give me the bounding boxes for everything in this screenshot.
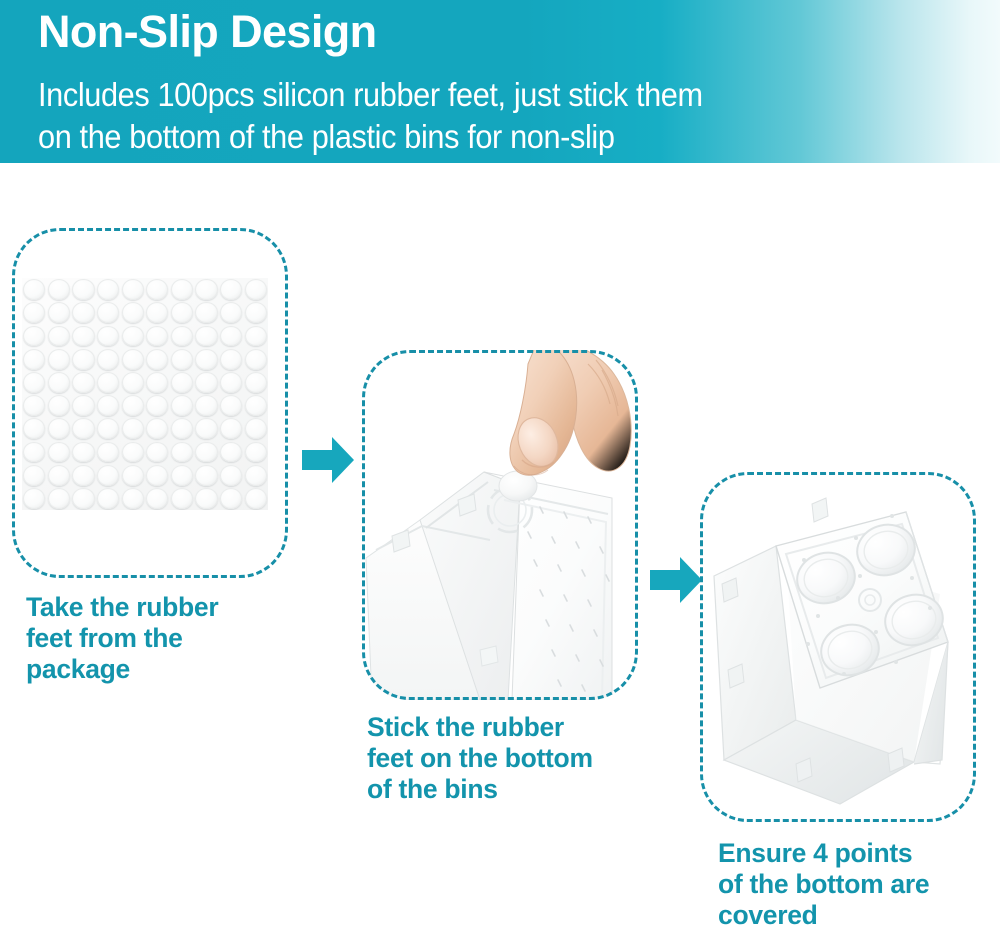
step-2-caption-line-1: Stick the rubber (367, 712, 677, 743)
rubber-foot (23, 442, 45, 463)
rubber-foot (48, 465, 70, 486)
rubber-foot (146, 418, 168, 439)
rubber-foot (195, 488, 217, 509)
rubber-foot (72, 465, 94, 486)
rubber-foot (245, 395, 267, 416)
rubber-foot (23, 372, 45, 393)
rubber-foot (97, 372, 119, 393)
rubber-foot (72, 279, 94, 300)
rubber-foot (146, 442, 168, 463)
rubber-foot (72, 395, 94, 416)
rubber-foot (195, 395, 217, 416)
rubber-foot (122, 349, 144, 370)
rubber-foot (146, 349, 168, 370)
rubber-feet-grid (22, 278, 268, 510)
rubber-foot (146, 372, 168, 393)
rubber-foot (72, 418, 94, 439)
rubber-foot (97, 349, 119, 370)
header-subtitle: Includes 100pcs silicon rubber feet, jus… (38, 74, 875, 158)
step-1-caption: Take the rubber feet from the package (26, 592, 326, 685)
rubber-foot (146, 465, 168, 486)
header-subtitle-line-1: Includes 100pcs silicon rubber feet, jus… (38, 74, 875, 116)
rubber-foot (220, 488, 242, 509)
rubber-foot (195, 442, 217, 463)
step-3-caption-line-1: Ensure 4 points (718, 838, 1000, 869)
step-3-panel (700, 472, 976, 822)
rubber-foot (48, 302, 70, 323)
rubber-foot (48, 279, 70, 300)
rubber-foot (23, 349, 45, 370)
rubber-foot (48, 326, 70, 347)
rubber-foot (195, 418, 217, 439)
rubber-foot (146, 279, 168, 300)
rubber-foot (146, 326, 168, 347)
rubber-foot (171, 326, 193, 347)
rubber-foot (122, 372, 144, 393)
rubber-foot (48, 349, 70, 370)
rubber-foot (245, 349, 267, 370)
rubber-foot (48, 418, 70, 439)
rubber-foot (171, 302, 193, 323)
rubber-foot (122, 465, 144, 486)
rubber-foot (195, 302, 217, 323)
step-1-caption-line-2: feet from the (26, 623, 326, 654)
rubber-foot (97, 326, 119, 347)
rubber-foot (220, 326, 242, 347)
rubber-foot (23, 465, 45, 486)
rubber-foot (97, 488, 119, 509)
step-3-caption: Ensure 4 points of the bottom are covere… (718, 838, 1000, 931)
rubber-foot (97, 465, 119, 486)
step-2-caption-line-2: feet on the bottom (367, 743, 677, 774)
rubber-foot (171, 395, 193, 416)
rubber-foot (220, 395, 242, 416)
rubber-foot (23, 279, 45, 300)
rubber-foot (146, 302, 168, 323)
rubber-foot (220, 302, 242, 323)
page-title: Non-Slip Design (38, 8, 377, 57)
rubber-foot (171, 488, 193, 509)
rubber-foot (245, 302, 267, 323)
rubber-foot (245, 418, 267, 439)
rubber-foot (195, 372, 217, 393)
rubber-foot (220, 372, 242, 393)
rubber-foot (245, 465, 267, 486)
step-2-caption-line-3: of the bins (367, 774, 677, 805)
rubber-foot (171, 442, 193, 463)
rubber-foot (122, 279, 144, 300)
step-1-caption-line-3: package (26, 654, 326, 685)
rubber-foot (23, 302, 45, 323)
rubber-foot (97, 442, 119, 463)
rubber-feet-sheet-image (22, 278, 268, 510)
rubber-foot (97, 302, 119, 323)
rubber-foot (122, 326, 144, 347)
arrow-step-1-to-2-icon (300, 432, 356, 488)
rubber-foot (122, 395, 144, 416)
rubber-foot (220, 442, 242, 463)
arrow-step-2-to-3-icon (648, 552, 704, 608)
step-2-caption: Stick the rubber feet on the bottom of t… (367, 712, 677, 805)
rubber-foot (122, 302, 144, 323)
step-2-panel (362, 350, 638, 700)
rubber-foot (48, 395, 70, 416)
rubber-foot (97, 418, 119, 439)
rubber-foot (48, 488, 70, 509)
step-3-caption-line-2: of the bottom are (718, 869, 1000, 900)
rubber-foot (122, 442, 144, 463)
rubber-foot (171, 372, 193, 393)
rubber-foot (72, 326, 94, 347)
header-banner: Non-Slip Design Includes 100pcs silicon … (0, 0, 1000, 163)
rubber-foot (245, 442, 267, 463)
rubber-foot (171, 349, 193, 370)
rubber-foot (195, 349, 217, 370)
rubber-foot (195, 465, 217, 486)
step-1-caption-line-1: Take the rubber (26, 592, 326, 623)
rubber-foot (72, 349, 94, 370)
rubber-foot (245, 372, 267, 393)
rubber-foot (245, 326, 267, 347)
rubber-foot (171, 465, 193, 486)
rubber-foot (122, 418, 144, 439)
rubber-foot (171, 418, 193, 439)
header-subtitle-line-2: on the bottom of the plastic bins for no… (38, 116, 875, 158)
rubber-foot (171, 279, 193, 300)
rubber-foot (23, 488, 45, 509)
rubber-foot (23, 395, 45, 416)
rubber-foot (195, 279, 217, 300)
rubber-foot (245, 488, 267, 509)
rubber-foot (220, 465, 242, 486)
rubber-foot (146, 395, 168, 416)
rubber-foot (245, 279, 267, 300)
rubber-foot (97, 279, 119, 300)
rubber-foot (48, 442, 70, 463)
rubber-foot (48, 372, 70, 393)
rubber-foot (220, 279, 242, 300)
rubber-foot (220, 349, 242, 370)
rubber-foot (220, 418, 242, 439)
rubber-foot (72, 442, 94, 463)
rubber-foot (72, 488, 94, 509)
rubber-foot (97, 395, 119, 416)
rubber-foot (23, 418, 45, 439)
rubber-foot (72, 372, 94, 393)
step-3-caption-line-3: covered (718, 900, 1000, 931)
rubber-foot (146, 488, 168, 509)
rubber-foot (195, 326, 217, 347)
rubber-foot (122, 488, 144, 509)
rubber-foot (23, 326, 45, 347)
rubber-foot (72, 302, 94, 323)
